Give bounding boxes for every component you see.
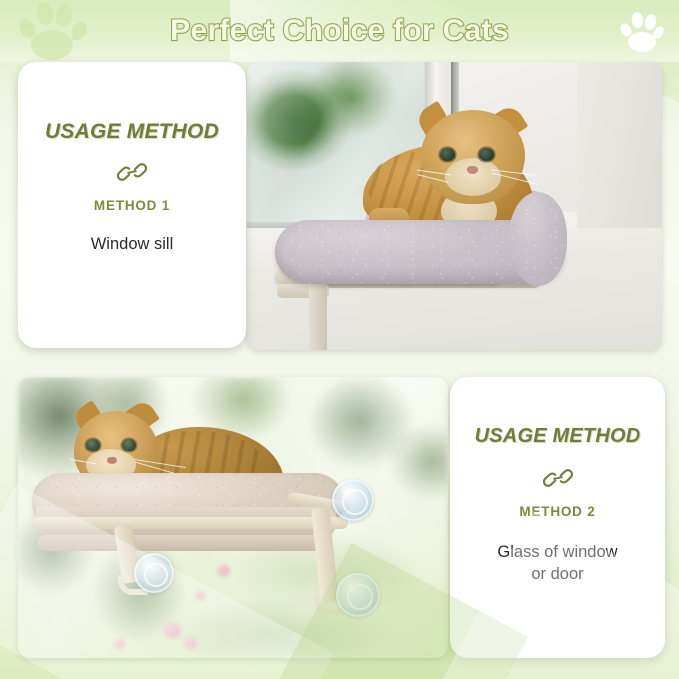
card-title: USAGE METHOD — [18, 120, 246, 144]
card-description: Window sill — [18, 233, 246, 255]
photo-scene — [18, 377, 448, 658]
card-method-label: METHOD 1 — [18, 198, 246, 213]
suction-cup — [332, 479, 374, 521]
hammock-bolster-side — [509, 192, 567, 286]
suction-cup — [336, 573, 380, 617]
card-method-label: METHOD 2 — [450, 504, 665, 519]
usage-method-card-2: USAGE METHOD METHOD 2 Glass of window or… — [450, 377, 665, 658]
hammock-leg — [309, 278, 327, 350]
hammock-rail — [32, 517, 348, 529]
chain-link-icon — [117, 160, 147, 184]
usage-method-card-1: USAGE METHOD METHOD 1 Window sill — [18, 62, 246, 348]
promo-page: Perfect Choice for Cats — [0, 0, 679, 679]
card-description: Glass of window or door — [450, 541, 665, 586]
hammock-front-edge — [38, 535, 328, 551]
page-title: Perfect Choice for Cats — [0, 14, 679, 48]
card-title: USAGE METHOD — [450, 425, 665, 448]
chain-link-icon — [543, 466, 573, 490]
photo-scene — [247, 62, 662, 350]
photo-glass-mount-setup — [18, 377, 448, 658]
suction-cup — [134, 553, 174, 593]
photo-window-sill-setup — [247, 62, 662, 350]
